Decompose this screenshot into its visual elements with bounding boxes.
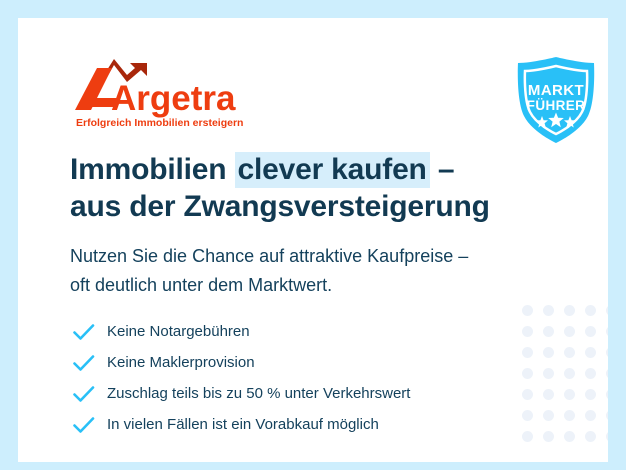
logo-wordmark: Argetra [111,79,236,118]
dot [585,326,596,337]
check-icon [73,416,107,434]
dot [564,431,575,442]
dot [606,368,608,379]
subheadline-line-2: oft deutlich unter dem Marktwert. [70,271,580,300]
dot [585,389,596,400]
dot [564,389,575,400]
dot [543,410,554,421]
argetra-logo[interactable]: Argetra Erfolgreich Immobilien ersteiger… [73,58,263,130]
badge-line2: FÜHRER [527,98,586,113]
dot [543,368,554,379]
dot [606,389,608,400]
dot [564,305,575,316]
headline-line-2: aus der Zwangsversteigerung [70,188,570,225]
dot [585,431,596,442]
benefit-list: Keine Notargebühren Keine Maklerprovisio… [73,316,543,440]
dot [564,410,575,421]
check-icon [73,323,107,341]
headline-part-before: Immobilien [70,153,235,186]
list-item-label: Keine Maklerprovision [107,354,255,371]
subheadline-line-1: Nutzen Sie die Chance auf attraktive Kau… [70,242,580,271]
check-icon [73,354,107,372]
dot [564,347,575,358]
dot [585,410,596,421]
dot [606,431,608,442]
market-leader-badge: MARKT FÜHRER [510,54,602,146]
dot [606,410,608,421]
dot [564,368,575,379]
dot [606,305,608,316]
dot [522,305,533,316]
list-item: In vielen Fällen ist ein Vorabkauf mögli… [73,409,543,440]
list-item: Keine Notargebühren [73,316,543,347]
badge-line1: MARKT [528,82,584,99]
dot [543,389,554,400]
list-item: Keine Maklerprovision [73,347,543,378]
dot [564,326,575,337]
dot [543,326,554,337]
list-item-label: Zuschlag teils bis zu 50 % unter Verkehr… [107,385,410,402]
dot [543,347,554,358]
list-item-label: In vielen Fällen ist ein Vorabkauf mögli… [107,416,379,433]
dot [585,368,596,379]
dot [585,347,596,358]
page-title: Immobilien clever kaufen – aus der Zwang… [70,151,570,225]
promo-banner: Argetra Erfolgreich Immobilien ersteiger… [0,0,626,470]
list-item-label: Keine Notargebühren [107,323,250,340]
dot [585,305,596,316]
list-item: Zuschlag teils bis zu 50 % unter Verkehr… [73,378,543,409]
headline-part-after: – [430,153,455,186]
subheadline: Nutzen Sie die Chance auf attraktive Kau… [70,242,580,300]
content-card: Argetra Erfolgreich Immobilien ersteiger… [18,18,608,462]
dot [606,326,608,337]
logo-tagline: Erfolgreich Immobilien ersteigern [76,117,243,129]
dot [543,431,554,442]
dot [543,305,554,316]
headline-line-1: Immobilien clever kaufen – [70,151,570,188]
check-icon [73,385,107,403]
dot [606,347,608,358]
headline-highlight: clever kaufen [235,152,430,188]
